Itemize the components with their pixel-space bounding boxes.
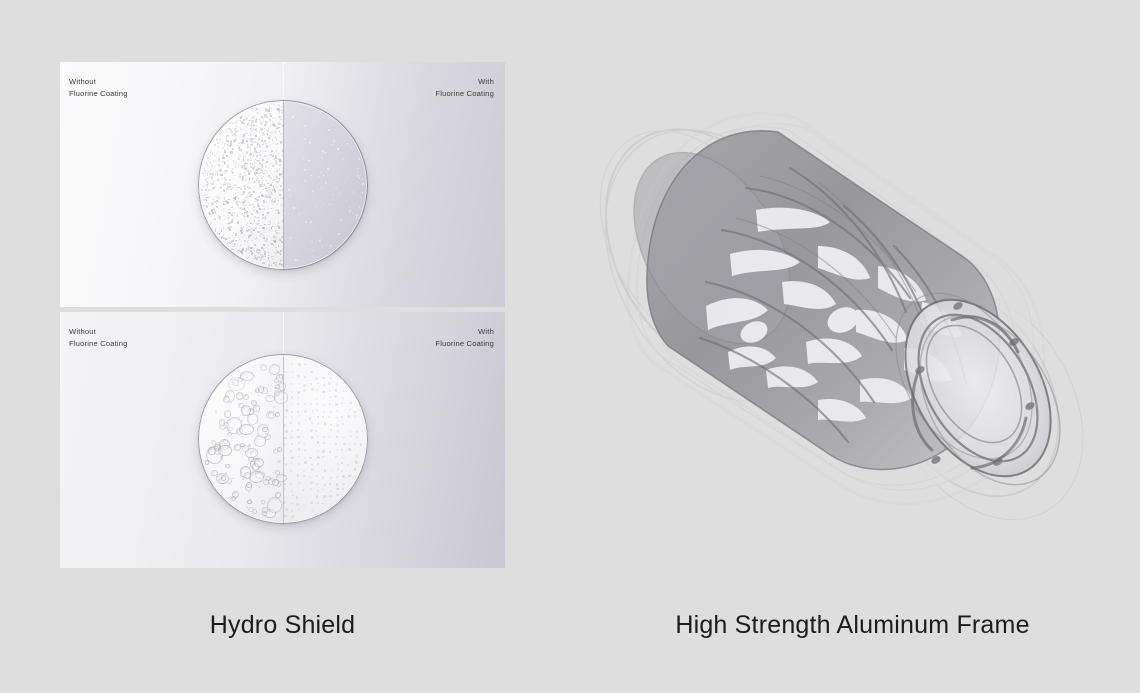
dust-disc-divider: [283, 100, 284, 270]
dust-disc-half-uncoated: [198, 100, 283, 270]
label-without-coating-dust: Without Fluorine Coating: [69, 76, 128, 99]
label-with-coating-dust: With Fluorine Coating: [435, 76, 494, 99]
feature-showcase: Without Fluorine Coating With Fluorine C…: [0, 0, 1140, 693]
dust-disc: [198, 100, 368, 270]
water-disc-half-coated: [283, 354, 368, 524]
comparison-panel-water: Without Fluorine Coating With Fluorine C…: [60, 312, 505, 568]
label-without-coating-water: Without Fluorine Coating: [69, 326, 128, 349]
water-disc-half-uncoated: [198, 354, 283, 524]
hydro-shield-figure: Without Fluorine Coating With Fluorine C…: [60, 62, 505, 568]
water-disc-wrapper: [198, 354, 368, 524]
comparison-panel-dust: Without Fluorine Coating With Fluorine C…: [60, 62, 505, 307]
aluminum-frame-figure: [560, 70, 1090, 570]
feature-title-aluminum-frame: High Strength Aluminum Frame: [565, 611, 1140, 640]
dust-disc-half-coated: [283, 100, 368, 270]
water-disc-divider: [283, 354, 284, 524]
aluminum-frame-xray-illustration: [560, 70, 1090, 570]
label-with-coating-water: With Fluorine Coating: [435, 326, 494, 349]
feature-title-hydro-shield: Hydro Shield: [0, 611, 565, 640]
water-disc: [198, 354, 368, 524]
dust-disc-wrapper: [198, 100, 368, 270]
